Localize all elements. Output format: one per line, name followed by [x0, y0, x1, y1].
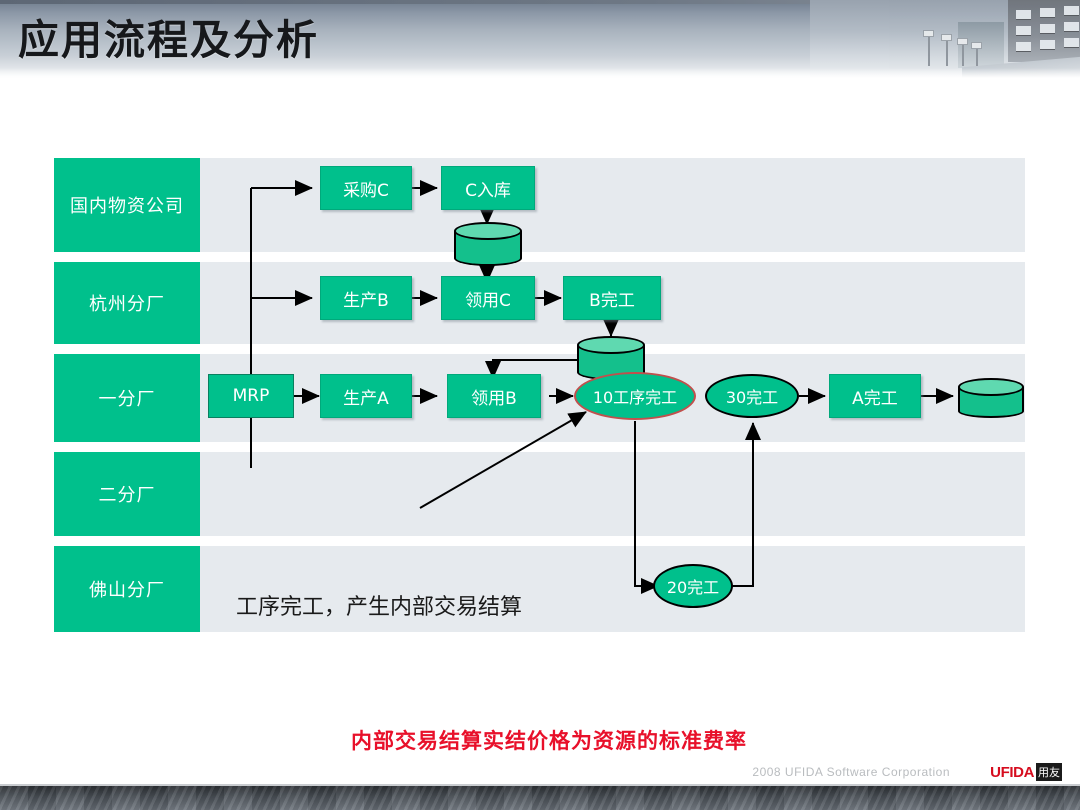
lamp-head-4 — [971, 42, 982, 49]
lane-label-foshan-plant: 佛山分厂 — [54, 546, 200, 632]
node-c-inbound[interactable]: C入库 — [441, 166, 535, 210]
header-building-photo — [810, 0, 1080, 78]
slide-caption: 内部交易结算实结价格为资源的标准费率 — [0, 725, 1080, 755]
lamp-head-3 — [957, 38, 968, 45]
node-30-complete[interactable]: 30完工 — [705, 374, 799, 418]
lane-row-4: 二分厂 — [54, 452, 1025, 536]
lane-label-hangzhou-plant: 杭州分厂 — [54, 262, 200, 344]
lane-row-2: 杭州分厂 — [54, 262, 1025, 344]
ufida-logo-cn: 用友 — [1036, 763, 1062, 781]
header-fade — [0, 68, 1080, 78]
node-produce-a[interactable]: 生产A — [320, 374, 412, 418]
database-cylinder-c-stock — [454, 222, 522, 266]
swimlane-diagram: 国内物资公司 杭州分厂 一分厂 二分厂 佛山分厂 — [0, 78, 1080, 728]
node-purchase-c[interactable]: 采购C — [320, 166, 412, 210]
lane-row-1: 国内物资公司 — [54, 158, 1025, 252]
annotation-text: 工序完工，产生内部交易结算 — [236, 589, 522, 621]
node-issue-b[interactable]: 领用B — [447, 374, 541, 418]
node-20-complete[interactable]: 20完工 — [653, 564, 733, 608]
lane-label-plant-two: 二分厂 — [54, 452, 200, 536]
node-mrp[interactable]: MRP — [208, 374, 294, 418]
slide-canvas: 应用流程及分析 国内物资公司 杭州分厂 一分厂 二分厂 佛山分厂 — [0, 0, 1080, 810]
footer-copyright: 2008 UFIDA Software Corporation — [752, 765, 950, 779]
node-produce-b[interactable]: 生产B — [320, 276, 412, 320]
lamp-head-2 — [941, 34, 952, 41]
lane-row-5: 佛山分厂 — [54, 546, 1025, 632]
page-title: 应用流程及分析 — [18, 6, 319, 66]
lane-label-domestic-materials: 国内物资公司 — [54, 158, 200, 252]
ufida-logo-text: UFIDA — [990, 764, 1034, 781]
lane-label-plant-one: 一分厂 — [54, 354, 200, 442]
node-b-complete[interactable]: B完工 — [563, 276, 661, 320]
lamp-pole-1 — [928, 32, 930, 66]
slide-header: 应用流程及分析 — [0, 0, 1080, 78]
ufida-logo: UFIDA 用友 — [990, 763, 1062, 781]
lamp-head-1 — [923, 30, 934, 37]
node-a-complete[interactable]: A完工 — [829, 374, 921, 418]
database-cylinder-a-stock — [958, 378, 1024, 418]
node-issue-c[interactable]: 领用C — [441, 276, 535, 320]
footer-texture-strip — [0, 786, 1080, 810]
building-block-main — [1008, 0, 1080, 62]
node-operation-10-complete[interactable]: 10工序完工 — [574, 372, 696, 420]
